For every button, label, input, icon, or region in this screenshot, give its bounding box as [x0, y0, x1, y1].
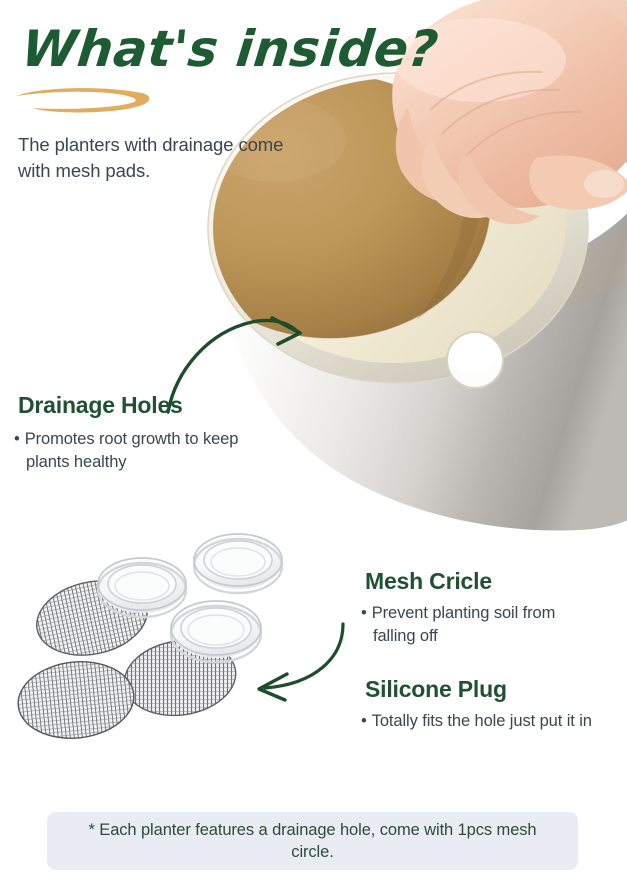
infographic-canvas: What's inside? The planters with drainag… [0, 0, 627, 879]
bullet-item: Prevent planting soil from falling off [361, 602, 601, 648]
silicone-plug [171, 601, 261, 662]
footer-note-banner: * Each planter features a drainage hole,… [47, 812, 578, 870]
page-title: What's inside? [19, 24, 440, 74]
section-heading-silicone-plug: Silicone Plug [365, 676, 507, 703]
section-heading-mesh-circle: Mesh Cricle [365, 568, 492, 595]
mesh-circle [14, 656, 137, 744]
silicone-plug [98, 558, 186, 617]
mesh-circle [30, 571, 155, 665]
page-subheading: The planters with drainage come with mes… [18, 132, 298, 185]
drainage-hole [447, 332, 503, 388]
planter-rim [208, 73, 588, 383]
parts-photo [10, 530, 350, 795]
silicone-plug [194, 534, 282, 593]
bullet-item: Totally fits the hole just put it in [361, 710, 606, 733]
arrow-to-parts-icon [243, 612, 378, 704]
section-heading-drainage-holes: Drainage Holes [18, 392, 183, 419]
mesh-circle [119, 634, 240, 723]
planter-body [220, 186, 627, 531]
footer-note-text: * Each planter features a drainage hole,… [47, 812, 578, 870]
title-underline-swash-icon [12, 84, 162, 118]
planter-soil [180, 74, 490, 338]
section-bullets-silicone-plug: Totally fits the hole just put it in [361, 710, 606, 733]
section-bullets-drainage-holes: Promotes root growth to keep plants heal… [14, 428, 254, 474]
bullet-item: Promotes root growth to keep plants heal… [14, 428, 254, 474]
section-bullets-mesh-circle: Prevent planting soil from falling off [361, 602, 601, 648]
